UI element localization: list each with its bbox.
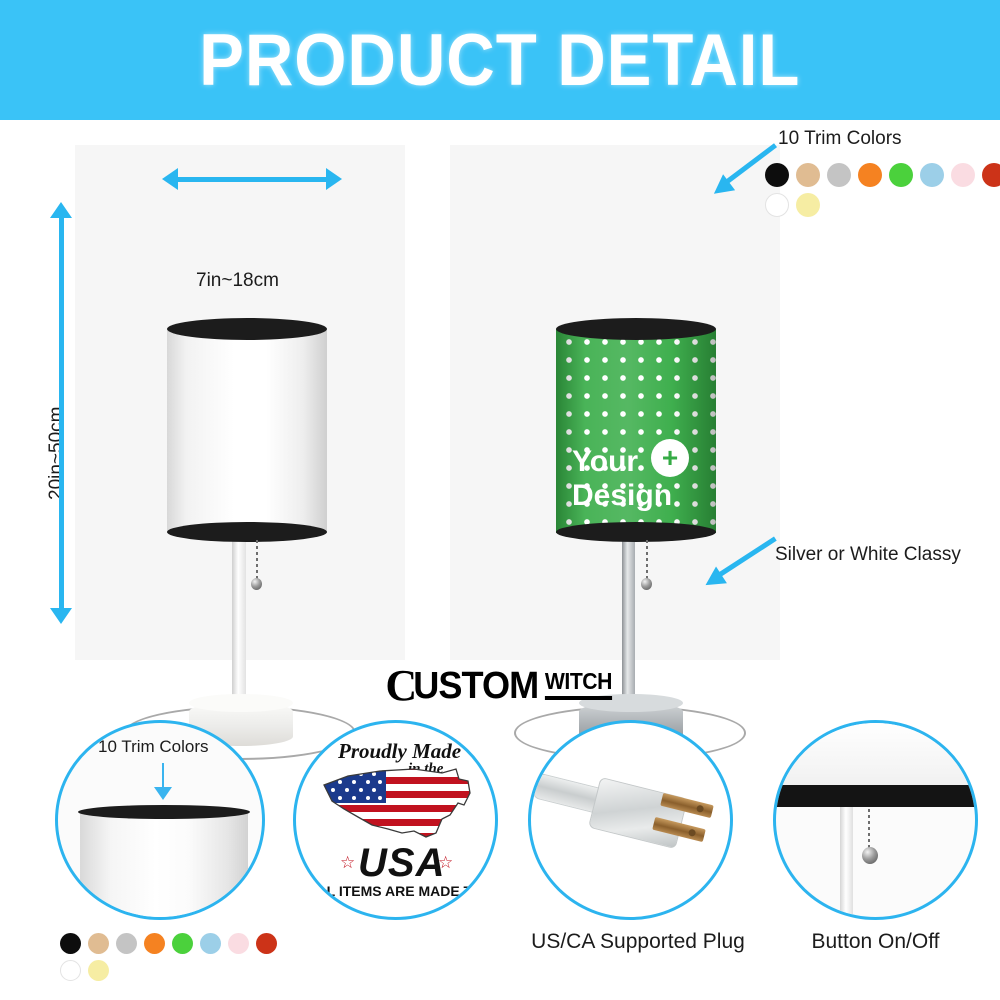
- green-lamp-pull-ball[interactable]: [641, 578, 652, 590]
- width-arrow-left: [162, 168, 178, 190]
- page-title: PRODUCT DETAIL: [199, 19, 800, 102]
- plug-prong-hole-lower: [688, 829, 696, 837]
- green-lampshade[interactable]: Your + Design: [556, 318, 716, 543]
- onoff-circle-frame: [773, 720, 978, 920]
- white-lamp-pull-chain[interactable]: [256, 540, 258, 582]
- plug-caption: US/CA Supported Plug: [518, 930, 758, 954]
- mini-shade-body: [80, 813, 248, 920]
- swatch-orange[interactable]: [144, 933, 165, 954]
- height-arrow-down: [50, 608, 72, 624]
- swatch-yellow[interactable]: [796, 193, 820, 217]
- mini-trim-colors-label: 10 Trim Colors: [98, 737, 209, 757]
- green-shade-body: Your + Design: [556, 329, 716, 533]
- trim-colors-circle-frame: 10 Trim Colors: [55, 720, 265, 920]
- swatch-pink[interactable]: [228, 933, 249, 954]
- width-arrow-right: [326, 168, 342, 190]
- swatch-yellow[interactable]: [88, 960, 109, 981]
- mini-trim-arrow-head: [154, 787, 172, 800]
- trim-colors-top-swatches[interactable]: [765, 163, 1000, 223]
- plug-prong-hole-upper: [696, 805, 704, 813]
- width-dimension-line: [176, 177, 326, 182]
- white-shade-bottom-trim: [167, 522, 327, 542]
- usa-big-text: USA: [358, 841, 445, 886]
- onoff-pull-ball[interactable]: [862, 847, 878, 864]
- usa-star-right: ☆: [438, 853, 453, 873]
- plug-circle-frame: [528, 720, 733, 920]
- plug-body: [588, 777, 688, 849]
- swatch-white[interactable]: [60, 960, 81, 981]
- plus-icon[interactable]: +: [651, 439, 689, 477]
- brand-logo-secondary: WITCH: [545, 668, 612, 700]
- swatch-tan[interactable]: [796, 163, 820, 187]
- onoff-pull-chain[interactable]: [868, 809, 870, 851]
- onoff-caption: Button On/Off: [768, 930, 983, 954]
- swatch-pink[interactable]: [951, 163, 975, 187]
- swatch-red[interactable]: [982, 163, 1000, 187]
- swatch-white[interactable]: [765, 193, 789, 217]
- usa-circle-frame: Proudly Made in the: [293, 720, 498, 920]
- feature-row: 10 Trim Colors Proudly Made in the: [0, 715, 1000, 1000]
- swatch-black[interactable]: [60, 933, 81, 954]
- white-shade-top-trim: [167, 318, 327, 340]
- swatch-black[interactable]: [765, 163, 789, 187]
- header-banner: PRODUCT DETAIL: [0, 0, 1000, 120]
- swatch-tan[interactable]: [88, 933, 109, 954]
- green-shade-bottom-trim: [556, 522, 716, 542]
- trim-colors-top-label: 10 Trim Colors: [778, 128, 902, 150]
- brand-logo-primary: USTOM: [413, 665, 538, 708]
- design-text-line1: Your: [556, 445, 716, 479]
- design-text-line2: Design: [556, 479, 716, 513]
- main-stage: 7in~18cm 20in~50cm Your + Design 10 Trim…: [0, 120, 1000, 660]
- base-callout-label: Silver or White Classy: [775, 544, 961, 566]
- green-shade-top-trim: [556, 318, 716, 340]
- onoff-pole: [840, 807, 853, 920]
- height-dimension-label: 20in~50cm: [46, 407, 68, 500]
- usa-sub-text: ALL ITEMS ARE MADE TO ORDER!: [308, 883, 498, 899]
- trim-colors-top-group: 10 Trim Colors: [760, 128, 1000, 238]
- onoff-black-trim: [776, 785, 978, 807]
- onoff-shade-bottom: [776, 723, 978, 789]
- brand-logo: C USTOM WITCH: [0, 662, 1000, 710]
- swatch-red[interactable]: [256, 933, 277, 954]
- white-shade-body: [167, 329, 327, 533]
- swatch-green[interactable]: [172, 933, 193, 954]
- swatch-gray[interactable]: [116, 933, 137, 954]
- swatch-light-blue[interactable]: [200, 933, 221, 954]
- usa-star-left: ☆: [340, 853, 355, 873]
- usa-map-flag-icon: [318, 759, 478, 845]
- swatch-gray[interactable]: [827, 163, 851, 187]
- white-lamp-pull-ball[interactable]: [251, 578, 262, 590]
- swatch-green[interactable]: [889, 163, 913, 187]
- width-dimension-label: 7in~18cm: [196, 270, 279, 292]
- mini-shade-trim: [78, 805, 250, 819]
- height-dimension-line: [59, 216, 64, 611]
- swatch-orange[interactable]: [858, 163, 882, 187]
- swatch-light-blue[interactable]: [920, 163, 944, 187]
- green-lamp-pull-chain[interactable]: [646, 540, 648, 582]
- white-lampshade: [167, 318, 327, 543]
- height-arrow-up: [50, 202, 72, 218]
- brand-logo-c-mark: C: [385, 664, 414, 708]
- bottom-trim-swatches[interactable]: [60, 933, 310, 987]
- usa-badge: Proudly Made in the: [296, 723, 498, 920]
